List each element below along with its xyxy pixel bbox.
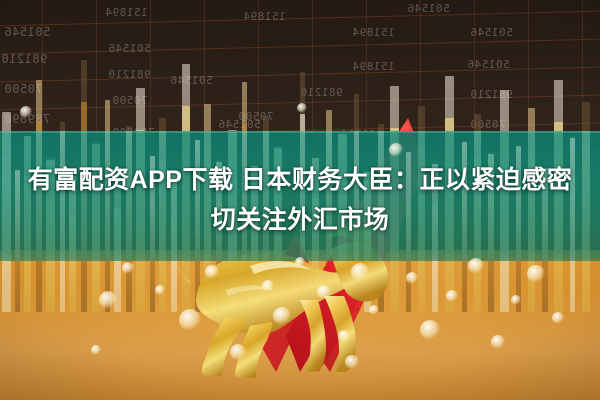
headline-line-1: 有富配资APP下载 日本财务大臣：正以紧迫感密 — [28, 166, 573, 194]
news-banner-image: 1518945015461518945015461518949812105015… — [0, 0, 600, 400]
headline-line-2: 切关注外汇市场 — [14, 200, 586, 240]
headline-text: 有富配资APP下载 日本财务大臣：正以紧迫感密 切关注外汇市场 — [0, 160, 600, 240]
